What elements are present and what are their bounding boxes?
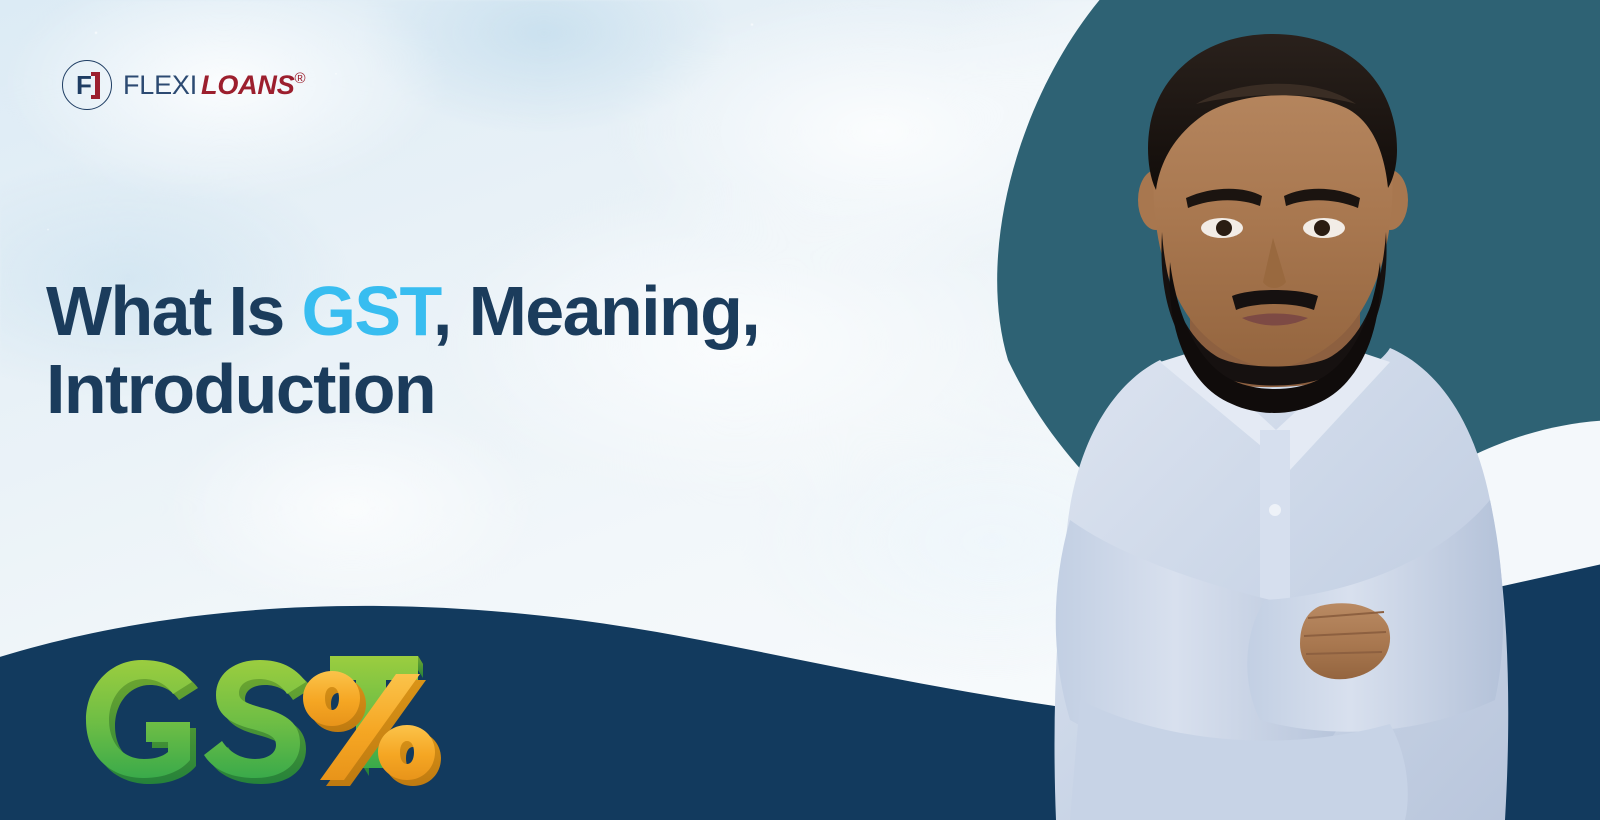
monogram-letter-f: F [76, 72, 91, 98]
headline-part-one: What Is [46, 272, 302, 350]
headline-accent-gst: GST [302, 272, 433, 350]
pupil-right [1314, 220, 1330, 236]
brand-logo[interactable]: F FLEXI LOANS ® [62, 58, 305, 112]
shirt-button [1269, 504, 1281, 516]
gst-letter-g [86, 660, 198, 784]
portrait-photo [960, 0, 1600, 820]
brand-wordmark: FLEXI LOANS ® [123, 70, 305, 100]
page-title: What Is GST, Meaning, Introduction [46, 272, 956, 428]
pupil-left [1216, 220, 1232, 236]
gst-percent-graphic [78, 638, 448, 788]
gst-letter-s [204, 660, 312, 784]
brand-word-loans: LOANS [201, 70, 295, 100]
flexiloans-monogram-icon: F [62, 60, 112, 110]
brand-word-flexi: FLEXI [123, 70, 197, 100]
gst-hero-banner: F FLEXI LOANS ® What Is GST, Meaning, In… [0, 0, 1600, 820]
monogram-bracket-shape [91, 72, 100, 99]
registered-trademark-icon: ® [295, 71, 306, 86]
